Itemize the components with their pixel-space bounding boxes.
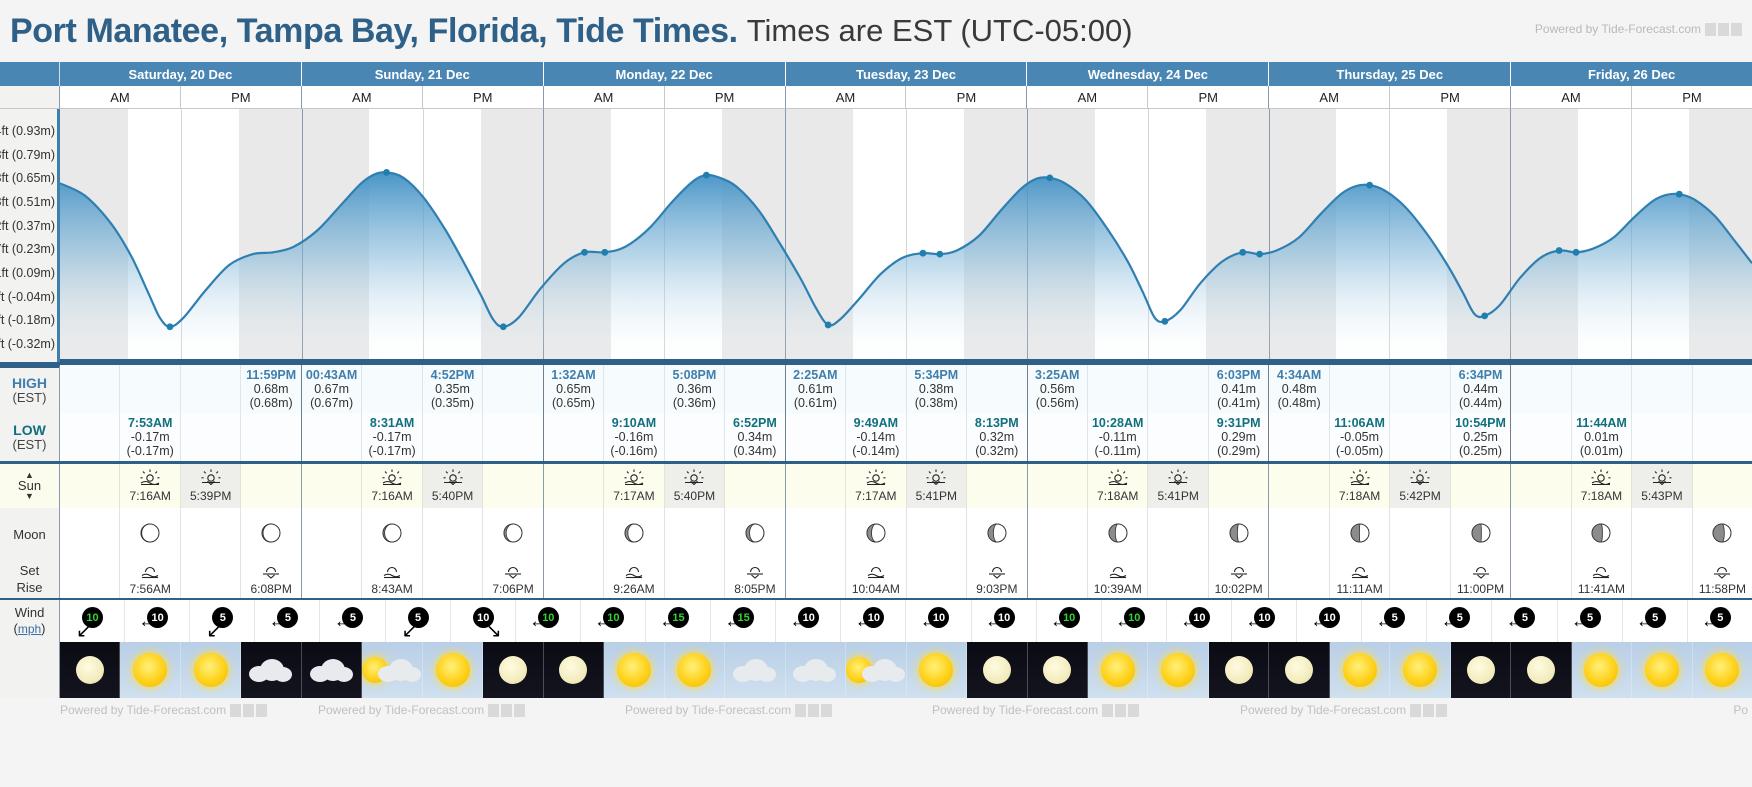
moon-setrise-cell-18 bbox=[1148, 562, 1208, 598]
sun-cell-27 bbox=[1693, 464, 1752, 508]
high-tide-cell-19: 6:03PM0.41m(0.41m) bbox=[1209, 365, 1269, 413]
weather-cell-13 bbox=[846, 642, 906, 698]
moon-phase-icon bbox=[1590, 522, 1612, 549]
low-tide-height: -0.14m bbox=[856, 430, 895, 444]
high-tide-height-alt: (0.36m) bbox=[673, 396, 716, 410]
moon-setrise-cell-24 bbox=[1511, 562, 1571, 598]
cloud-weather-icon bbox=[793, 657, 837, 683]
moonrise-time: 10:04AM bbox=[852, 582, 900, 596]
wind-speed-badge: 5 bbox=[212, 607, 233, 628]
high-tide-height: 0.56m bbox=[1040, 382, 1075, 396]
moon-cell-14 bbox=[907, 508, 967, 562]
moon-phase-icon bbox=[865, 522, 887, 549]
low-tide-height-alt: (-0.17m) bbox=[127, 444, 174, 458]
sunrise-icon bbox=[1349, 469, 1371, 488]
wind-cell-9: ←15 bbox=[646, 600, 711, 642]
low-tide-label-text: LOW bbox=[13, 423, 46, 438]
high-tide-time: 3:25AM bbox=[1035, 368, 1079, 382]
wind-speed-badge: 5 bbox=[1449, 607, 1470, 628]
moon-phase-icon bbox=[1107, 522, 1129, 549]
tide-area-fill bbox=[60, 172, 1752, 362]
high-tide-cell-15 bbox=[967, 365, 1027, 413]
sunset-icon bbox=[442, 469, 464, 488]
sun-weather-icon bbox=[1645, 653, 1679, 687]
footer-watermark-right: Po bbox=[1733, 703, 1748, 717]
high-tide-cell-0 bbox=[60, 365, 120, 413]
wind-cell-21: ←5 bbox=[1427, 600, 1492, 642]
moon-cell-7 bbox=[483, 508, 543, 562]
high-tide-cell-12: 2:25AM0.61m(0.61m) bbox=[786, 365, 846, 413]
low-tide-time: 10:28AM bbox=[1092, 416, 1143, 430]
day-header-5: Wednesday, 24 Dec bbox=[1027, 62, 1269, 86]
moon-cell-16 bbox=[1028, 508, 1088, 562]
high-tide-height-alt: (0.65m) bbox=[552, 396, 595, 410]
moon-cell-26 bbox=[1632, 508, 1692, 562]
low-tide-cell-24 bbox=[1511, 413, 1571, 461]
chart-y-axis: 3.04ft (0.93m)2.58ft (0.79m)2.13ft (0.65… bbox=[0, 109, 60, 362]
high-tide-time: 5:34PM bbox=[914, 368, 958, 382]
moonset-icon bbox=[987, 565, 1007, 582]
sun-row-label: ▲ Sun ▼ bbox=[0, 464, 60, 508]
tide-extremum-marker bbox=[1256, 251, 1263, 258]
moon-weather-icon bbox=[1225, 656, 1253, 684]
low-tide-row: LOW (EST) 7:53AM-0.17m(-0.17m)8:31AM-0.1… bbox=[0, 413, 1752, 464]
sunrise-time: 7:18AM bbox=[1339, 489, 1380, 503]
halfday-pm-2: PM bbox=[423, 86, 544, 109]
y-axis-tick-6: 0.31ft (0.09m) bbox=[0, 266, 55, 280]
low-tide-cell-20 bbox=[1269, 413, 1329, 461]
high-tide-height-alt: (0.56m) bbox=[1036, 396, 1079, 410]
moon-setrise-cell-22 bbox=[1390, 562, 1450, 598]
high-tide-row-label: HIGH (EST) bbox=[0, 365, 60, 413]
moon-setrise-cell-13: 10:04AM bbox=[846, 562, 906, 598]
low-tide-cell-10 bbox=[665, 413, 725, 461]
high-tide-time: 00:43AM bbox=[306, 368, 357, 382]
low-tide-cell-17: 10:28AM-0.11m(-0.11m) bbox=[1088, 413, 1148, 461]
sun-cell-23 bbox=[1451, 464, 1511, 508]
moon-cell-21 bbox=[1330, 508, 1390, 562]
high-tide-cell-26 bbox=[1632, 365, 1692, 413]
sun-cell-7 bbox=[483, 464, 543, 508]
moonset-time: 9:03PM bbox=[976, 582, 1017, 596]
wind-badge: ↙5 bbox=[205, 604, 239, 638]
moon-setrise-cell-19: 10:02PM bbox=[1209, 562, 1269, 598]
sun-weather-icon bbox=[133, 653, 167, 687]
moon-setrise-cell-3: 6:08PM bbox=[241, 562, 301, 598]
y-axis-tick-3: 1.68ft (0.51m) bbox=[0, 195, 55, 209]
wind-cell-17: ←10 bbox=[1167, 600, 1232, 642]
y-axis-tick-2: 2.13ft (0.65m) bbox=[0, 171, 55, 185]
weather-cell-27 bbox=[1693, 642, 1752, 698]
weather-cell-10 bbox=[665, 642, 725, 698]
high-tide-cell-2 bbox=[181, 365, 241, 413]
low-tide-height-alt: (0.34m) bbox=[733, 444, 776, 458]
moon-cell-19 bbox=[1209, 508, 1269, 562]
wind-speed-badge: 10 bbox=[863, 607, 884, 628]
wind-badge: ←5 bbox=[1507, 604, 1541, 638]
wind-unit-link[interactable]: mph bbox=[18, 622, 41, 636]
low-tide-cell-2 bbox=[181, 413, 241, 461]
weather-cell-20 bbox=[1269, 642, 1329, 698]
tide-extremum-marker bbox=[1161, 318, 1168, 325]
moon-setrise-cell-14 bbox=[907, 562, 967, 598]
wind-cell-8: ←10 bbox=[581, 600, 646, 642]
halfday-header-corner bbox=[0, 86, 60, 109]
high-tide-time: 11:59PM bbox=[246, 368, 296, 382]
high-tide-time: 6:34PM bbox=[1459, 368, 1503, 382]
sun-cell-18: 5:41PM bbox=[1148, 464, 1208, 508]
sunset-icon bbox=[683, 469, 705, 488]
moon-cell-27 bbox=[1693, 508, 1752, 562]
high-tide-label-tz: (EST) bbox=[13, 391, 47, 405]
moon-cell-5 bbox=[362, 508, 422, 562]
wind-badge: ↘10 bbox=[466, 604, 500, 638]
high-tide-cell-25 bbox=[1572, 365, 1632, 413]
sunrise-icon bbox=[623, 469, 645, 488]
powered-by-top: Powered by Tide-Forecast.com bbox=[1535, 22, 1742, 36]
sun-cell-13: 7:17AM bbox=[846, 464, 906, 508]
low-tide-cell-21: 11:06AM-0.05m(-0.05m) bbox=[1330, 413, 1390, 461]
low-tide-time: 9:31PM bbox=[1217, 416, 1261, 430]
wind-badge: ←10 bbox=[531, 604, 565, 638]
moon-setrise-cell-10 bbox=[665, 562, 725, 598]
timezone-subtitle: Times are EST (UTC-05:00) bbox=[747, 13, 1133, 49]
moonset-time: 11:58PM bbox=[1699, 582, 1746, 596]
wind-speed-badge: 5 bbox=[1645, 607, 1666, 628]
weather-cell-11 bbox=[725, 642, 785, 698]
low-tide-height-alt: (-0.17m) bbox=[368, 444, 415, 458]
low-tide-row-label: LOW (EST) bbox=[0, 413, 60, 461]
low-tide-cell-23: 10:54PM0.25m(0.25m) bbox=[1451, 413, 1511, 461]
moon-setrise-cell-16 bbox=[1028, 562, 1088, 598]
weather-cell-14 bbox=[907, 642, 967, 698]
moon-weather-icon bbox=[1285, 656, 1313, 684]
high-tide-time: 1:32AM bbox=[551, 368, 595, 382]
moon-setrise-cell-11: 8:05PM bbox=[725, 562, 785, 598]
wind-cell-7: ←10 bbox=[516, 600, 581, 642]
moonset-time: 11:00PM bbox=[1457, 582, 1504, 596]
weather-row bbox=[0, 642, 1752, 698]
sunrise-time: 7:18AM bbox=[1581, 489, 1622, 503]
wind-speed-badge: 5 bbox=[1710, 607, 1731, 628]
low-tide-height: -0.17m bbox=[131, 430, 170, 444]
tide-chart: 3.04ft (0.93m)2.58ft (0.79m)2.13ft (0.65… bbox=[0, 109, 1752, 362]
moon-cell-11 bbox=[725, 508, 785, 562]
wind-badge: ←10 bbox=[596, 604, 630, 638]
sun-cell-11 bbox=[725, 464, 785, 508]
tide-extremum-marker bbox=[825, 322, 832, 329]
high-tide-cells: 11:59PM0.68m(0.68m)00:43AM0.67m(0.67m)4:… bbox=[60, 365, 1752, 413]
footer-watermark-blocks-icon bbox=[795, 704, 832, 717]
sunset-icon bbox=[1651, 469, 1673, 488]
sun-weather-icon bbox=[194, 653, 228, 687]
day-header-row: Saturday, 20 DecSunday, 21 DecMonday, 22… bbox=[0, 62, 1752, 86]
moon-weather-icon bbox=[559, 656, 587, 684]
high-tide-cell-23: 6:34PM0.44m(0.44m) bbox=[1451, 365, 1511, 413]
wind-cell-25: ←5 bbox=[1688, 600, 1752, 642]
moon-setrise-cell-15: 9:03PM bbox=[967, 562, 1027, 598]
moon-phase-icon bbox=[1711, 522, 1733, 549]
wind-cell-20: ←5 bbox=[1362, 600, 1427, 642]
moon-setrise-cell-4 bbox=[302, 562, 362, 598]
moonrise-time: 11:11AM bbox=[1336, 582, 1382, 596]
day-header-1: Saturday, 20 Dec bbox=[60, 62, 302, 86]
tide-extremum-marker bbox=[1556, 247, 1563, 254]
low-tide-cell-0 bbox=[60, 413, 120, 461]
weather-cell-12 bbox=[786, 642, 846, 698]
sun-cell-4 bbox=[302, 464, 362, 508]
sunset-time: 5:43PM bbox=[1641, 489, 1682, 503]
watermark-blocks-icon bbox=[1705, 23, 1742, 36]
moonset-time: 8:05PM bbox=[734, 582, 775, 596]
sun-cell-26: 5:43PM bbox=[1632, 464, 1692, 508]
chart-plot-area bbox=[60, 109, 1752, 362]
low-tide-height: 0.34m bbox=[738, 430, 773, 444]
low-tide-cell-25: 11:44AM0.01m(0.01m) bbox=[1572, 413, 1632, 461]
wind-cell-10: ←15 bbox=[711, 600, 776, 642]
low-tide-cell-6 bbox=[423, 413, 483, 461]
weather-cell-21 bbox=[1330, 642, 1390, 698]
low-tide-cell-19: 9:31PM0.29m(0.29m) bbox=[1209, 413, 1269, 461]
wind-cell-14: ←10 bbox=[972, 600, 1037, 642]
low-tide-cell-9: 9:10AM-0.16m(-0.16m) bbox=[604, 413, 664, 461]
wind-badge: ←10 bbox=[1117, 604, 1151, 638]
low-tide-cell-27 bbox=[1693, 413, 1752, 461]
moonrise-icon bbox=[1591, 565, 1611, 582]
low-tide-cell-15: 8:13PM0.32m(0.32m) bbox=[967, 413, 1027, 461]
powered-by-top-text: Powered by Tide-Forecast.com bbox=[1535, 22, 1701, 36]
moonrise-icon bbox=[866, 565, 886, 582]
low-tide-height-alt: (-0.05m) bbox=[1336, 444, 1383, 458]
moon-phase-icon bbox=[623, 522, 645, 549]
wind-cell-2: ↙5 bbox=[190, 600, 255, 642]
footer-watermark-text: Powered by Tide-Forecast.com bbox=[318, 703, 484, 717]
wind-speed-badge: 5 bbox=[408, 607, 429, 628]
cloud-weather-icon bbox=[378, 657, 422, 683]
sun-weather-icon bbox=[1584, 653, 1618, 687]
halfday-am-2: AM bbox=[302, 86, 423, 109]
footer-watermark-blocks-icon bbox=[488, 704, 525, 717]
moon-phase-icon bbox=[1470, 522, 1492, 549]
sun-cell-15 bbox=[967, 464, 1027, 508]
sun-cell-14: 5:41PM bbox=[907, 464, 967, 508]
tide-extremum-marker bbox=[1676, 191, 1683, 198]
tide-extremum-marker bbox=[920, 250, 927, 257]
moon-weather-icon bbox=[983, 656, 1011, 684]
sun-weather-icon bbox=[1161, 653, 1195, 687]
moonset-time: 10:02PM bbox=[1215, 582, 1263, 596]
wind-speed-badge: 10 bbox=[473, 607, 494, 628]
moon-setrise-cell-21: 11:11AM bbox=[1330, 562, 1390, 598]
moon-setrise-cell-27: 11:58PM bbox=[1693, 562, 1752, 598]
moon-setrise-cell-8 bbox=[544, 562, 604, 598]
moon-weather-icon bbox=[1467, 656, 1495, 684]
moonrise-time: 7:56AM bbox=[130, 582, 171, 596]
tide-table: Saturday, 20 DecSunday, 21 DecMonday, 22… bbox=[0, 62, 1752, 698]
moon-phase-icon bbox=[986, 522, 1008, 549]
moonset-time: 7:06PM bbox=[492, 582, 533, 596]
weather-cell-25 bbox=[1572, 642, 1632, 698]
high-tide-height-alt: (0.35m) bbox=[431, 396, 474, 410]
high-tide-cell-18 bbox=[1148, 365, 1208, 413]
moon-setrise-row-label: Set Rise bbox=[0, 562, 60, 598]
moonrise-icon bbox=[1350, 565, 1370, 582]
wind-speed-badge: 10 bbox=[1189, 607, 1210, 628]
footer-watermark-4: Powered by Tide-Forecast.com bbox=[1240, 703, 1447, 717]
halfday-pm-5: PM bbox=[1148, 86, 1269, 109]
moon-cell-18 bbox=[1148, 508, 1208, 562]
cloud-weather-icon bbox=[249, 657, 293, 683]
moonrise-icon bbox=[140, 565, 160, 582]
high-tide-cell-16: 3:25AM0.56m(0.56m) bbox=[1028, 365, 1088, 413]
footer-watermark-text: Powered by Tide-Forecast.com bbox=[60, 703, 226, 717]
moonrise-icon bbox=[624, 565, 644, 582]
weather-cell-15 bbox=[967, 642, 1027, 698]
weather-cell-8 bbox=[544, 642, 604, 698]
moon-weather-icon bbox=[499, 656, 527, 684]
low-tide-cell-18 bbox=[1148, 413, 1208, 461]
sun-weather-icon bbox=[1101, 653, 1135, 687]
wind-speed-badge: 5 bbox=[342, 607, 363, 628]
low-tide-height-alt: (0.25m) bbox=[1459, 444, 1502, 458]
low-tide-cell-13: 9:49AM-0.14m(-0.14m) bbox=[846, 413, 906, 461]
wind-badge: ↙5 bbox=[401, 604, 435, 638]
moonset-icon bbox=[1229, 565, 1249, 582]
halfday-pm-3: PM bbox=[665, 86, 786, 109]
moon-phase-icon bbox=[1228, 522, 1250, 549]
moon-cell-17 bbox=[1088, 508, 1148, 562]
low-tide-time: 8:13PM bbox=[975, 416, 1019, 430]
wind-speed-badge: 10 bbox=[147, 607, 168, 628]
sun-weather-icon bbox=[919, 653, 953, 687]
halfday-am-5: AM bbox=[1027, 86, 1148, 109]
high-tide-label-text: HIGH bbox=[12, 376, 47, 391]
moon-cell-12 bbox=[786, 508, 846, 562]
wind-speed-badge: 10 bbox=[1254, 607, 1275, 628]
wind-speed-badge: 15 bbox=[733, 607, 754, 628]
moon-set-label-text: Set bbox=[20, 563, 40, 580]
sunrise-icon bbox=[139, 469, 161, 488]
sun-weather-icon bbox=[1403, 653, 1437, 687]
sun-weather-icon bbox=[1705, 653, 1739, 687]
low-tide-cell-16 bbox=[1028, 413, 1088, 461]
sun-cell-10: 5:40PM bbox=[665, 464, 725, 508]
high-tide-time: 4:52PM bbox=[431, 368, 475, 382]
wind-cells: ↙10←10↙5←5←5↙5↘10←10←10←15←15←10←10←10←1… bbox=[60, 600, 1752, 642]
moon-cell-20 bbox=[1269, 508, 1329, 562]
tide-extremum-marker bbox=[1046, 174, 1053, 181]
wind-badge: ←5 bbox=[1573, 604, 1607, 638]
halfday-header-row: AMPMAMPMAMPMAMPMAMPMAMPMAMPM bbox=[0, 86, 1752, 109]
high-tide-height: 0.41m bbox=[1221, 382, 1256, 396]
low-tide-cells: 7:53AM-0.17m(-0.17m)8:31AM-0.17m(-0.17m)… bbox=[60, 413, 1752, 461]
sun-cells: 7:16AM5:39PM7:16AM5:40PM7:17AM5:40PM7:17… bbox=[60, 464, 1752, 508]
sun-cell-22: 5:42PM bbox=[1390, 464, 1450, 508]
high-tide-cell-1 bbox=[120, 365, 180, 413]
tide-curve-svg bbox=[60, 109, 1752, 362]
y-axis-tick-8: -0.6ft (-0.18m) bbox=[0, 313, 55, 327]
low-tide-time: 9:10AM bbox=[612, 416, 656, 430]
high-tide-height: 0.48m bbox=[1282, 382, 1317, 396]
sunrise-icon bbox=[1590, 469, 1612, 488]
low-tide-time: 9:49AM bbox=[854, 416, 898, 430]
sun-cell-8 bbox=[544, 464, 604, 508]
moon-setrise-cell-23: 11:00PM bbox=[1451, 562, 1511, 598]
sun-cell-1: 7:16AM bbox=[120, 464, 180, 508]
wind-cell-5: ↙5 bbox=[386, 600, 451, 642]
moon-cell-23 bbox=[1451, 508, 1511, 562]
moon-cell-3 bbox=[241, 508, 301, 562]
tide-extremum-marker bbox=[1481, 312, 1488, 319]
footer-watermark-text: Powered by Tide-Forecast.com bbox=[1240, 703, 1406, 717]
wind-cell-4: ←5 bbox=[320, 600, 385, 642]
sun-cell-0 bbox=[60, 464, 120, 508]
high-tide-height: 0.61m bbox=[798, 382, 833, 396]
tide-extremum-marker bbox=[383, 169, 390, 176]
y-axis-tick-0: 3.04ft (0.93m) bbox=[0, 124, 55, 138]
moonrise-time: 8:43AM bbox=[371, 582, 412, 596]
moon-setrise-cell-1: 7:56AM bbox=[120, 562, 180, 598]
wind-badge: ←5 bbox=[1638, 604, 1672, 638]
footer-watermark-3: Powered by Tide-Forecast.com bbox=[932, 703, 1139, 717]
moonrise-icon bbox=[1108, 565, 1128, 582]
tide-extremum-marker bbox=[581, 249, 588, 256]
moonset-time: 6:08PM bbox=[250, 582, 291, 596]
wind-cell-1: ←10 bbox=[125, 600, 190, 642]
low-tide-cell-11: 6:52PM0.34m(0.34m) bbox=[725, 413, 785, 461]
wind-speed-badge: 10 bbox=[82, 607, 103, 628]
weather-cell-17 bbox=[1088, 642, 1148, 698]
moon-cell-22 bbox=[1390, 508, 1450, 562]
wind-badge: ←5 bbox=[270, 604, 304, 638]
high-tide-height: 0.67m bbox=[314, 382, 349, 396]
moon-cell-24 bbox=[1511, 508, 1571, 562]
weather-cell-22 bbox=[1390, 642, 1450, 698]
low-tide-time: 7:53AM bbox=[128, 416, 172, 430]
low-tide-height: 0.25m bbox=[1463, 430, 1498, 444]
wind-speed-badge: 10 bbox=[603, 607, 624, 628]
moon-rise-label-text: Rise bbox=[16, 580, 42, 597]
sunset-icon bbox=[925, 469, 947, 488]
moonrise-time: 10:39AM bbox=[1094, 582, 1142, 596]
footer-watermark-blocks-icon bbox=[1410, 704, 1447, 717]
high-tide-cell-27 bbox=[1693, 365, 1752, 413]
sunrise-time: 7:16AM bbox=[371, 489, 412, 503]
wind-cell-16: ←10 bbox=[1102, 600, 1167, 642]
high-tide-time: 2:25AM bbox=[793, 368, 837, 382]
sun-cell-5: 7:16AM bbox=[362, 464, 422, 508]
moon-phase-icon bbox=[1349, 522, 1371, 549]
moon-phase-icon bbox=[381, 522, 403, 549]
wind-badge: ←10 bbox=[1247, 604, 1281, 638]
page-header: Port Manatee, Tampa Bay, Florida, Tide T… bbox=[0, 0, 1752, 62]
sun-cell-16 bbox=[1028, 464, 1088, 508]
wind-unit-wrap: (mph) bbox=[13, 621, 45, 637]
wind-badge: ←5 bbox=[1703, 604, 1737, 638]
low-tide-cell-1: 7:53AM-0.17m(-0.17m) bbox=[120, 413, 180, 461]
moonset-icon bbox=[1471, 565, 1491, 582]
tide-extremum-marker bbox=[167, 323, 174, 330]
low-tide-height-alt: (-0.16m) bbox=[610, 444, 657, 458]
wind-speed-badge: 10 bbox=[1319, 607, 1340, 628]
wind-badge: ←10 bbox=[856, 604, 890, 638]
high-tide-cell-14: 5:34PM0.38m(0.38m) bbox=[907, 365, 967, 413]
halfday-am-3: AM bbox=[544, 86, 665, 109]
sunset-time: 5:40PM bbox=[674, 489, 715, 503]
low-tide-height: -0.17m bbox=[373, 430, 412, 444]
low-tide-cell-26 bbox=[1632, 413, 1692, 461]
sun-cell-6: 5:40PM bbox=[423, 464, 483, 508]
